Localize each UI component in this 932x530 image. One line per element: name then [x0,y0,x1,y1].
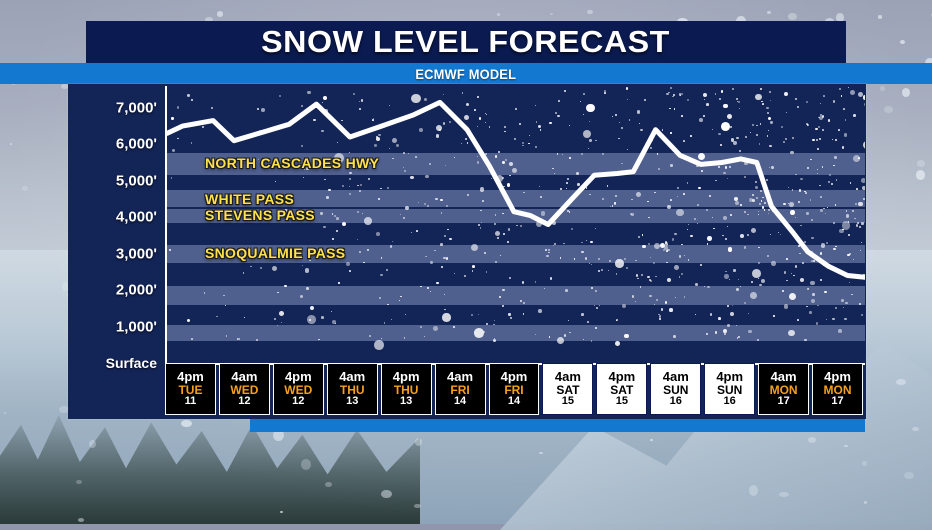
date-box-time: 4am [231,370,257,384]
pass-label: WHITE PASS [205,191,294,207]
x-axis-date-box[interactable]: 4pmSUN16 [704,363,755,415]
date-box-date: 17 [777,396,789,408]
date-box-time: 4am [555,370,581,384]
y-axis-tick: 4,000' [116,209,157,226]
x-axis-date-box[interactable]: 4amFRI14 [435,363,486,415]
plot-area: NORTH CASCADES HWYWHITE PASSSTEVENS PASS… [165,86,865,365]
x-axis-date-box[interactable]: 4amTHU13 [327,363,378,415]
x-axis-date-box[interactable]: 4amWED12 [219,363,270,415]
x-axis-date-box[interactable]: 4amMON17 [758,363,809,415]
date-box-date: 12 [238,396,250,408]
y-axis-tick: 2,000' [116,282,157,299]
pass-label: STEVENS PASS [205,207,315,223]
date-box-date: 16 [670,396,682,408]
x-axis-date-box[interactable]: 4pmMON17 [812,363,863,415]
date-box-time: 4pm [824,370,851,384]
y-axis-tick: 7,000' [116,99,157,116]
date-box-date: 16 [724,396,736,408]
y-axis: 7,000'6,000'5,000'4,000'3,000'2,000'1,00… [68,84,163,366]
y-axis-tick: 5,000' [116,172,157,189]
subtitle-bar: ECMWF MODEL [0,63,932,84]
date-box-date: 13 [346,396,358,408]
x-axis-date-box[interactable]: 4amSUN16 [650,363,701,415]
x-axis-date-box[interactable]: 4pmSAT15 [596,363,647,415]
date-box-time: 4am [771,370,797,384]
date-box-date: 11 [185,396,197,408]
date-box-date: 17 [831,396,843,408]
x-axis-date-box[interactable]: 4pmFRI14 [489,363,540,415]
date-box-date: 15 [616,396,628,408]
date-box-date: 12 [292,396,304,408]
y-axis-tick: 1,000' [116,318,157,335]
pass-label: NORTH CASCADES HWY [205,155,379,171]
date-box-date: 14 [454,396,466,408]
x-axis: 4pmTUE114amWED124pmWED124amTHU134pmTHU13… [165,363,863,415]
date-box-time: 4pm [501,370,528,384]
x-axis-date-box[interactable]: 4pmWED12 [273,363,324,415]
date-box-time: 4pm [716,370,743,384]
title-bar: SNOW LEVEL FORECAST [86,21,846,63]
date-box-date: 14 [508,396,520,408]
x-axis-date-box[interactable]: 4pmTUE11 [165,363,216,415]
date-box-date: 13 [400,396,412,408]
date-box-time: 4am [339,370,365,384]
date-box-date: 15 [562,396,574,408]
y-axis-tick: 3,000' [116,245,157,262]
model-subtitle: ECMWF MODEL [416,66,517,82]
bottom-accent-bar [250,419,865,432]
page-title: SNOW LEVEL FORECAST [262,24,671,60]
y-axis-tick: 6,000' [116,136,157,153]
date-box-time: 4am [447,370,473,384]
y-axis-tick: Surface [106,355,157,371]
x-axis-date-box[interactable]: 4amSAT15 [542,363,593,415]
date-box-time: 4pm [177,370,204,384]
date-box-time: 4pm [285,370,312,384]
date-box-time: 4am [663,370,689,384]
x-axis-date-box[interactable]: 4pmTHU13 [381,363,432,415]
date-box-time: 4pm [393,370,420,384]
pass-label: SNOQUALMIE PASS [205,245,345,261]
snow-level-line-chart [167,86,865,363]
date-box-time: 4pm [608,370,635,384]
